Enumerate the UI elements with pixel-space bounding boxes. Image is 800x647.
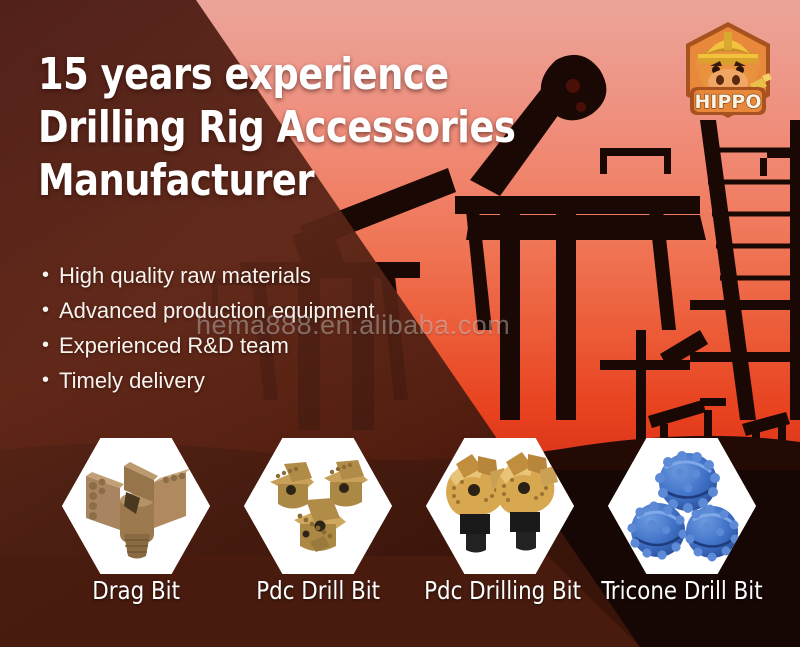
hippo-logo: HIPPO bbox=[672, 16, 784, 128]
headline-line-2: Drilling Rig Accessories bbox=[38, 101, 559, 154]
feature-text: Timely delivery bbox=[59, 363, 205, 398]
product-label-pdc-drill-bit: Pdc Drill Bit bbox=[244, 576, 392, 606]
product-hex-pdc-drill-bit[interactable] bbox=[244, 438, 392, 574]
feature-item: • Timely delivery bbox=[42, 363, 582, 398]
logo-text: HIPPO bbox=[695, 91, 762, 113]
feature-text: High quality raw materials bbox=[59, 258, 311, 293]
product-hex-drag-bit[interactable] bbox=[62, 438, 210, 574]
bullet-icon: • bbox=[42, 293, 59, 328]
product-label-row: Drag Bit Pdc Drill Bit Pdc Drilling Bit … bbox=[0, 576, 800, 610]
bullet-icon: • bbox=[42, 328, 59, 363]
product-hex-tricone-drill-bit[interactable] bbox=[608, 438, 756, 574]
watermark: hema888.en.alibaba.com bbox=[196, 310, 510, 341]
tricone-drill-bit-icon bbox=[608, 438, 756, 574]
bullet-icon: • bbox=[42, 258, 59, 293]
product-label-pdc-drilling-bit: Pdc Drilling Bit bbox=[420, 576, 580, 606]
feature-item: • High quality raw materials bbox=[42, 258, 582, 293]
headline-line-3: Manufacturer bbox=[38, 154, 559, 207]
product-hex-pdc-drilling-bit[interactable] bbox=[426, 438, 574, 574]
product-label-tricone-drill-bit: Tricone Drill Bit bbox=[594, 576, 770, 606]
product-label-drag-bit: Drag Bit bbox=[62, 576, 210, 606]
headline-line-1: 15 years experience bbox=[38, 48, 559, 101]
product-hexagon-row bbox=[0, 438, 800, 578]
bullet-icon: • bbox=[42, 363, 59, 398]
promotional-banner: 15 years experience Drilling Rig Accesso… bbox=[0, 0, 800, 647]
pdc-drilling-bit-icon bbox=[426, 438, 574, 574]
pdc-drill-bit-icon bbox=[244, 438, 392, 574]
headline: 15 years experience Drilling Rig Accesso… bbox=[38, 48, 598, 207]
drag-bit-icon bbox=[62, 438, 210, 574]
